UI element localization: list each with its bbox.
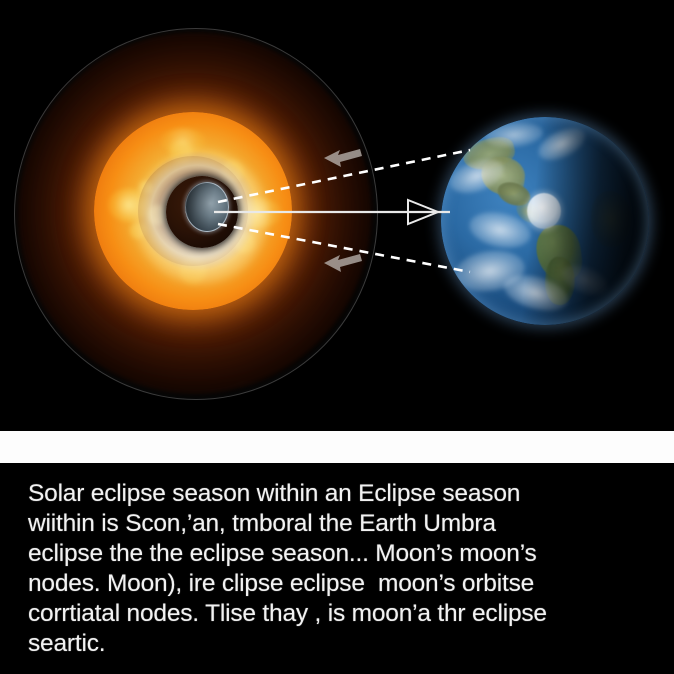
caption-line-3: eclipse the the eclipse season... Moon’s… <box>28 539 648 569</box>
ray-annotation-layer <box>0 0 674 431</box>
section-separator-band <box>0 431 674 463</box>
caption-panel: Solar eclipse season within an Eclipse s… <box>0 463 674 674</box>
caption-line-6: seartic. <box>28 629 648 659</box>
page-root: Solar eclipse season within an Eclipse s… <box>0 0 674 674</box>
caption-line-4: nodes. Moon), ire clipse eclipse moon’s … <box>28 569 648 599</box>
caption-line-1: Solar eclipse season within an Eclipse s… <box>28 479 648 509</box>
direction-arrow-upper <box>324 149 362 167</box>
direction-arrow-lower <box>324 254 362 272</box>
caption-line-2: wiithin is Scon,’an, tmboral the Earth U… <box>28 509 648 539</box>
eclipse-illustration <box>0 0 674 431</box>
caption-line-5: corrtiatal nodes. Tlise thay , is moon’a… <box>28 599 648 629</box>
